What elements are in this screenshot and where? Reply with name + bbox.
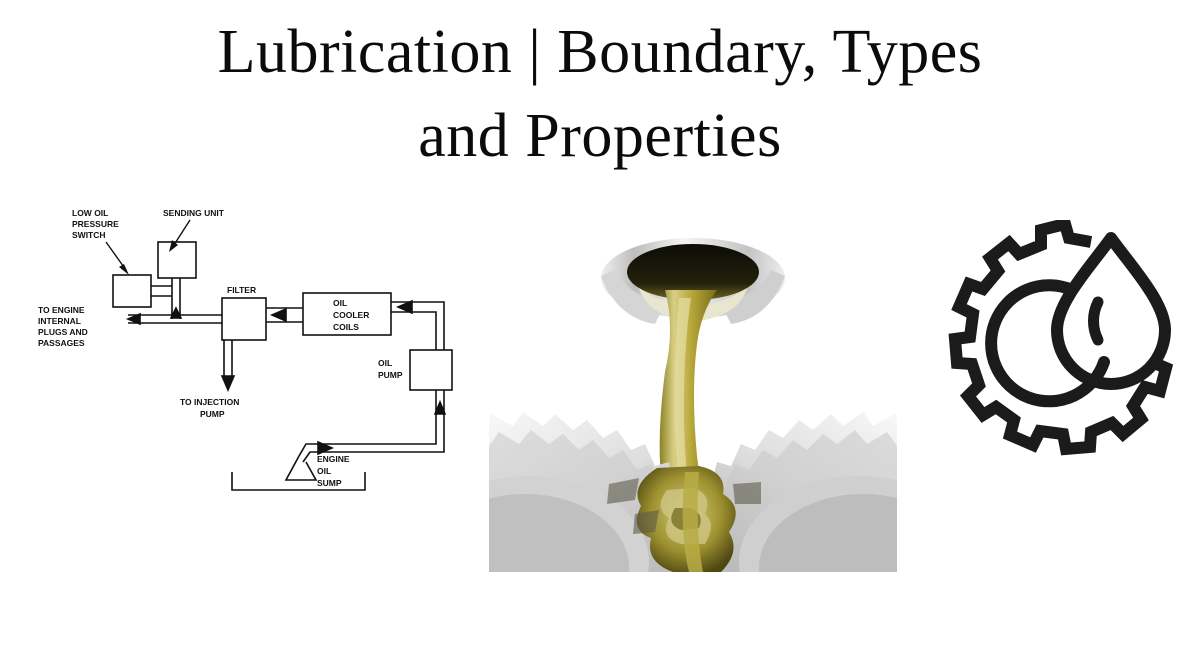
sending-unit-box [158, 242, 196, 278]
oil-sump-pan [232, 472, 365, 490]
switch-connector [151, 286, 172, 296]
label-oil-cooler-2: COOLER [333, 310, 369, 320]
oil-pump-box [410, 350, 452, 390]
filter-box [222, 298, 266, 340]
sump-pickup [286, 456, 316, 480]
injection-pump-arrow [222, 376, 234, 390]
filter-to-cooler-arrow [272, 309, 286, 321]
label-oil-pump-2: PUMP [378, 370, 403, 380]
cooler-to-pump-pipe [391, 302, 444, 350]
engine-lubrication-schematic: LOW OIL PRESSURE SWITCH SENDING UNIT TO … [20, 190, 480, 520]
droplet-highlight [1094, 302, 1099, 340]
label-oil-cooler-1: OIL [333, 298, 347, 308]
label-to-injection-pump-2: PUMP [200, 409, 225, 419]
label-engine-oil-sump-3: SUMP [317, 478, 342, 488]
label-oil-pump-1: OIL [378, 358, 392, 368]
injection-pump-pipe [224, 340, 232, 378]
label-to-engine-2: INTERNAL [38, 316, 81, 326]
label-oil-cooler-3: COILS [333, 322, 359, 332]
label-sending-unit: SENDING UNIT [163, 208, 225, 218]
media-row: LOW OIL PRESSURE SWITCH SENDING UNIT TO … [0, 190, 1200, 590]
label-low-oil-pressure-switch-3: SWITCH [72, 230, 106, 240]
label-low-oil-pressure-switch-2: PRESSURE [72, 219, 119, 229]
low-oil-pressure-switch-box [113, 275, 151, 307]
page-title-line-1: Lubrication | Boundary, Types [0, 10, 1200, 94]
leader-arrowhead-switch [119, 264, 129, 275]
label-low-oil-pressure-switch: LOW OIL [72, 208, 108, 218]
label-to-injection-pump-1: TO INJECTION [180, 397, 239, 407]
oil-droplet [1057, 238, 1165, 384]
label-filter: FILTER [227, 285, 256, 295]
gear-with-oil-drop-icon [941, 220, 1181, 460]
label-to-engine-4: PASSAGES [38, 338, 85, 348]
oil-pouring-onto-gears-photo [489, 232, 897, 572]
label-to-engine-1: TO ENGINE [38, 305, 85, 315]
label-to-engine-3: PLUGS AND [38, 327, 88, 337]
page-title: Lubrication | Boundary, Types and Proper… [0, 10, 1200, 178]
label-engine-oil-sump-2: OIL [317, 466, 331, 476]
page-title-line-2: and Properties [0, 94, 1200, 178]
label-engine-oil-sump-1: ENGINE [317, 454, 350, 464]
